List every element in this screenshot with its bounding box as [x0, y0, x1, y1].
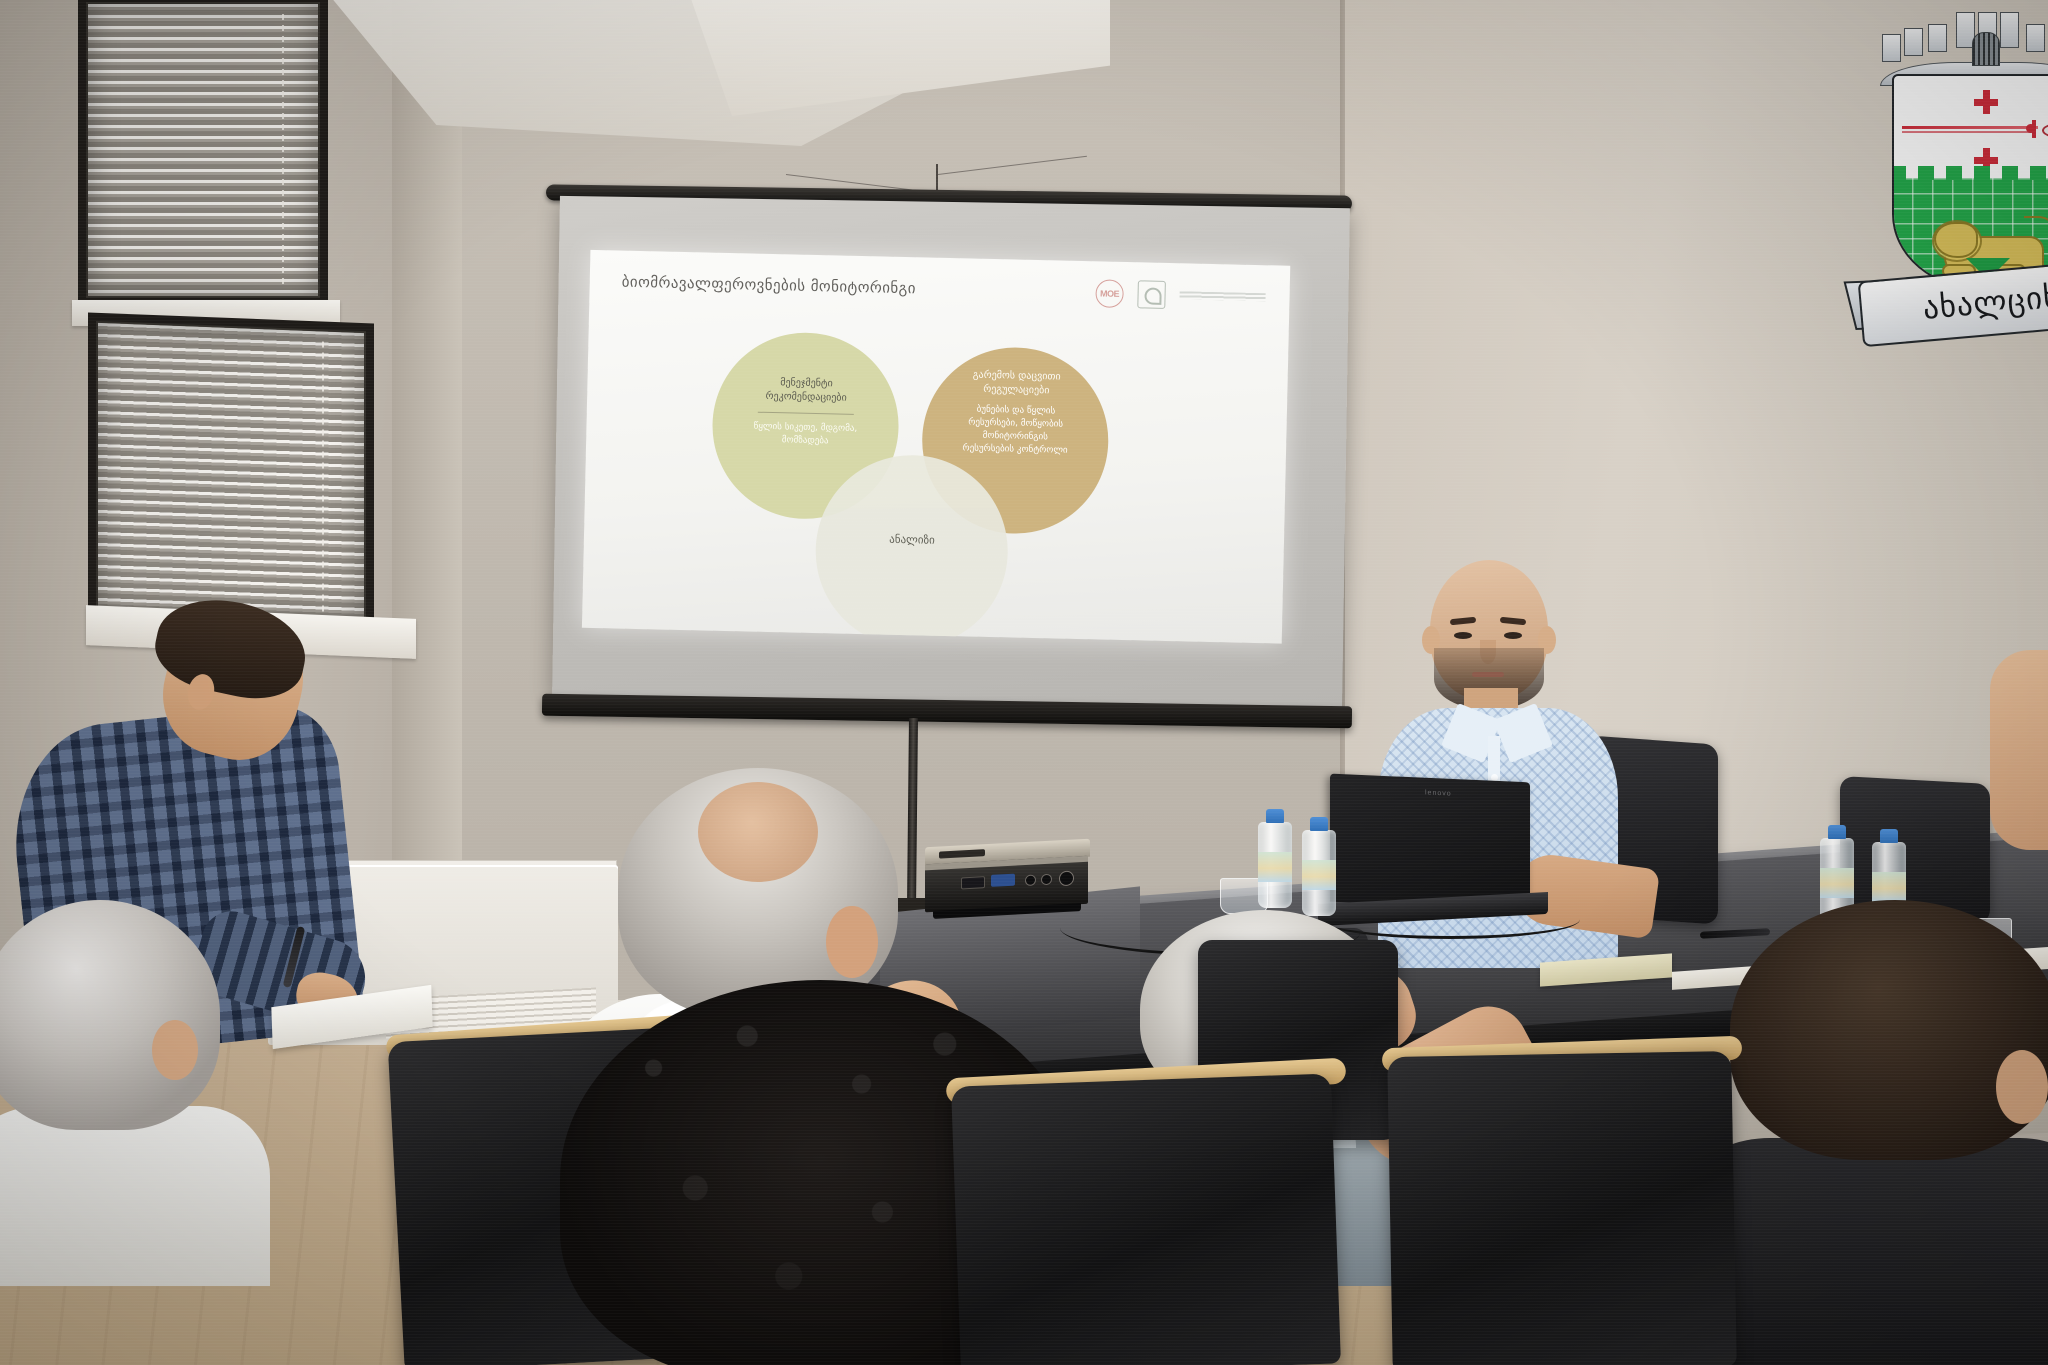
attendee-partial-right: [1990, 650, 2048, 850]
bottle-label: [1872, 872, 1906, 902]
lion-head: [1934, 222, 1978, 258]
partial-arm: [1990, 650, 2048, 850]
screen-canvas: ბიომრავალფეროვნების მონიტორინგი MOE მენე…: [552, 196, 1350, 708]
front-left-shirt: [0, 1106, 270, 1286]
white-shirt-ear: [826, 906, 878, 978]
crown-merlon: [2026, 24, 2045, 52]
water-bottle[interactable]: [1258, 822, 1292, 908]
bottle-cap: [1828, 825, 1846, 839]
slide-circle-tan-body: ბუნების და წყლის რესურსები, მოწყობის მონ…: [956, 403, 1075, 458]
sword-icon: [1902, 120, 2048, 136]
projection-screen: ბიომრავალფეროვნების მონიტორინგი MOE მენე…: [556, 182, 1356, 722]
bottle-cap: [1310, 817, 1328, 831]
blind-cord[interactable]: [282, 14, 284, 286]
window-upper-left: [78, 0, 328, 306]
conference-room-photo: ახალციხე ბიომრავალფეროვნების მონიტორინგი…: [0, 0, 2048, 1365]
water-bottle[interactable]: [1302, 830, 1336, 916]
attendee-grey-front-left: [0, 900, 230, 1200]
presenter-mouth: [1472, 672, 1504, 677]
dark-hair-ear: [1996, 1050, 2048, 1124]
sword-pommel: [2026, 124, 2035, 133]
bottle-label: [1820, 868, 1854, 898]
white-shirt-bald-spot: [698, 782, 818, 882]
crown-merlon: [2000, 12, 2019, 48]
chair[interactable]: [1382, 1038, 1742, 1365]
bottle-cap: [1266, 809, 1284, 823]
sword-hilt: [2042, 123, 2048, 138]
coat-of-arms-shield: [1892, 74, 2048, 290]
slide-circle-tan-heading: გარემოს დაცვითი რეგულაციები: [956, 368, 1077, 398]
attendee-dark-hair-right: [1700, 900, 2048, 1365]
projector-vga-port: [991, 874, 1015, 887]
fortress-battlement: [1892, 166, 2048, 180]
laptop-brand-label: lenovo: [1425, 789, 1452, 797]
front-left-ear: [152, 1020, 198, 1080]
slide-circle-white-heading: ანალიზი: [889, 533, 935, 549]
crown-merlon: [1882, 34, 1901, 62]
ministry-logo-text: MOE: [1100, 288, 1119, 298]
chair-backrest: [951, 1073, 1341, 1365]
crown-merlon: [1904, 28, 1923, 56]
bottle-label: [1258, 852, 1292, 882]
partner-wordmark-icon: [1179, 291, 1265, 301]
venetian-blinds[interactable]: [98, 323, 364, 623]
presenter-eye-right: [1504, 632, 1522, 639]
bottle-label: [1302, 860, 1336, 890]
crown-merlon: [1928, 24, 1947, 52]
partner-logo-icon: [1137, 280, 1166, 309]
slide-circle-green-body: წყლის სიკეთე, მდგომა, მომზადება: [746, 420, 865, 449]
upper-cross-icon: [1974, 90, 1998, 114]
slide-logo-row: MOE: [1095, 279, 1266, 311]
front-left-hair: [0, 900, 220, 1130]
sword-blade: [1902, 126, 2038, 129]
venetian-blinds[interactable]: [88, 4, 318, 296]
ministry-logo-icon: MOE: [1095, 279, 1124, 308]
dark-hair: [1730, 900, 2048, 1160]
presenter-eye-left: [1454, 632, 1472, 639]
crown-gate-icon: [1972, 32, 2000, 66]
projected-slide: ბიომრავალფეროვნების მონიტორინგი MOE მენე…: [582, 250, 1290, 644]
slide-circle-green-heading: მენეჯმენტი რეკომენდაციები: [746, 375, 867, 405]
window-lower-left: [88, 313, 374, 634]
blind-cord[interactable]: [322, 341, 324, 611]
akhaltsikhe-coat-of-arms: ახალციხე: [1862, 8, 2048, 338]
slide-title: ბიომრავალფეროვნების მონიტორინგი: [622, 273, 917, 298]
slide-circle-divider: [758, 412, 854, 415]
coat-of-arms-banner: ახალციხე: [1858, 259, 2048, 347]
banner-text: ახალციხე: [1921, 277, 2048, 326]
chair[interactable]: [946, 1062, 1346, 1365]
bottle-cap: [1880, 829, 1898, 843]
chair-backrest: [1387, 1051, 1736, 1365]
sword-blade-shadow: [1902, 131, 2034, 133]
